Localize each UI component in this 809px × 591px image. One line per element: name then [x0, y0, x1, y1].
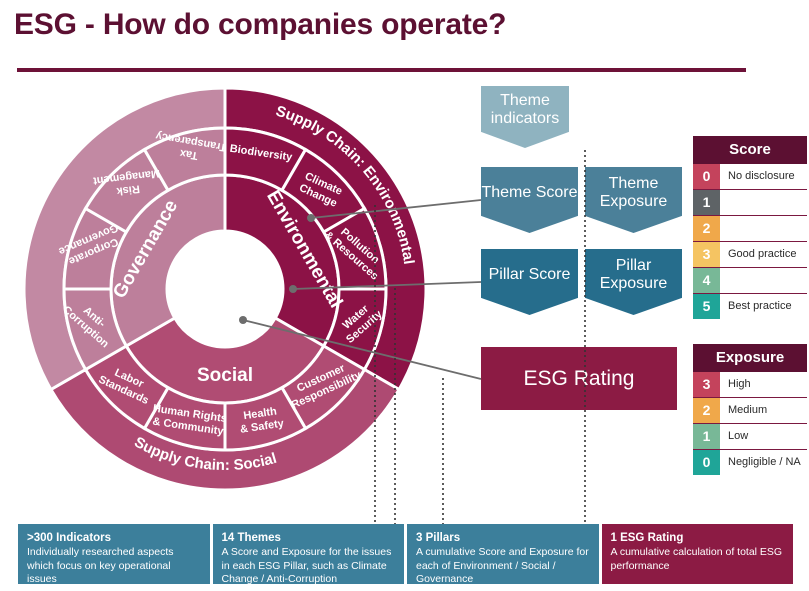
theme-indicators-label-1: Theme indicators — [481, 92, 569, 128]
score-legend: Score 0No disclosure123Good practice45Be… — [693, 136, 807, 319]
score-legend-row: 5Best practice — [693, 294, 807, 319]
summary-cell-heading: >300 Indicators — [27, 531, 201, 545]
summary-cell-heading: 14 Themes — [222, 531, 396, 545]
exposure-legend-title: Exposure — [693, 344, 807, 372]
exposure-legend-key: 2 — [693, 398, 720, 423]
pillar-exposure-label: Pillar Exposure — [585, 257, 682, 293]
summary-cell-text: A Score and Exposure for the issues in e… — [222, 546, 392, 584]
score-legend-row: 0No disclosure — [693, 164, 807, 190]
score-legend-key: 0 — [693, 164, 720, 189]
exposure-legend-row: 0Negligible / NA — [693, 450, 807, 475]
chevron-pillar-exposure[interactable]: Pillar Exposure — [585, 249, 682, 315]
wheel-center-line1: ESG — [203, 265, 247, 288]
score-legend-key: 3 — [693, 242, 720, 267]
summary-bar: >300 IndicatorsIndividually researched a… — [18, 524, 793, 584]
score-legend-key: 4 — [693, 268, 720, 293]
score-legend-key: 1 — [693, 190, 720, 215]
chevron-theme-score[interactable]: Theme Score — [481, 167, 578, 233]
exposure-legend-label: Negligible / NA — [720, 450, 807, 475]
chevron-theme-indicators[interactable]: Theme indicators — [481, 86, 569, 148]
exposure-legend-key: 3 — [693, 372, 720, 397]
summary-cell-heading: 1 ESG Rating — [611, 531, 785, 545]
pillar-label: Social — [197, 365, 253, 386]
wheel-center-line2: Ratings — [186, 290, 263, 313]
chevron-pillar-score[interactable]: Pillar Score — [481, 249, 578, 315]
summary-cell-text: A cumulative Score and Exposure for each… — [416, 546, 589, 584]
summary-cell: >300 IndicatorsIndividually researched a… — [18, 524, 210, 584]
score-legend-label — [720, 190, 807, 215]
score-legend-label: No disclosure — [720, 164, 807, 189]
page-title: ESG - How do companies operate? — [14, 8, 506, 42]
score-legend-row: 3Good practice — [693, 242, 807, 268]
theme-exposure-label: Theme Exposure — [585, 175, 682, 211]
score-legend-label — [720, 216, 807, 241]
summary-cell-text: Individually researched aspects which fo… — [27, 546, 174, 584]
esg-wheel: ESG Ratings BiodiversityClimateChangePol… — [0, 70, 470, 510]
exposure-legend: Exposure 3High2Medium1Low0Negligible / N… — [693, 344, 807, 475]
score-legend-key: 2 — [693, 216, 720, 241]
exposure-legend-key: 1 — [693, 424, 720, 449]
score-legend-row: 1 — [693, 190, 807, 216]
score-legend-label: Good practice — [720, 242, 807, 267]
score-legend-label: Best practice — [720, 294, 807, 319]
score-legend-label — [720, 268, 807, 293]
exposure-legend-row: 1Low — [693, 424, 807, 450]
theme-score-label: Theme Score — [481, 184, 577, 202]
exposure-legend-key: 0 — [693, 450, 720, 475]
summary-cell: 3 PillarsA cumulative Score and Exposure… — [407, 524, 599, 584]
exposure-legend-row: 3High — [693, 372, 807, 398]
score-legend-row: 4 — [693, 268, 807, 294]
pillar-score-label: Pillar Score — [489, 266, 571, 284]
summary-cell-heading: 3 Pillars — [416, 531, 590, 545]
exposure-legend-label: High — [720, 372, 807, 397]
exposure-legend-label: Low — [720, 424, 807, 449]
esg-rating-label: ESG Rating — [524, 367, 635, 391]
score-legend-title: Score — [693, 136, 807, 164]
exposure-legend-row: 2Medium — [693, 398, 807, 424]
esg-rating-block[interactable]: ESG Rating — [481, 347, 677, 410]
summary-cell-text: A cumulative calculation of total ESG pe… — [611, 546, 783, 571]
wheel-center-disc — [167, 231, 283, 347]
chevron-theme-exposure[interactable]: Theme Exposure — [585, 167, 682, 233]
score-legend-row: 2 — [693, 216, 807, 242]
exposure-legend-label: Medium — [720, 398, 807, 423]
summary-cell: 1 ESG RatingA cumulative calculation of … — [602, 524, 794, 584]
summary-cell: 14 ThemesA Score and Exposure for the is… — [213, 524, 405, 584]
score-legend-key: 5 — [693, 294, 720, 319]
